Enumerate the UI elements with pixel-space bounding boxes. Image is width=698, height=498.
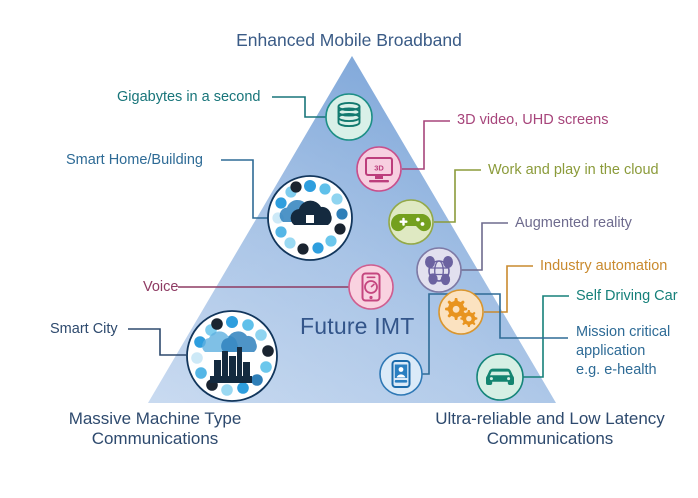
callout-label-gigabytes[interactable]: Gigabytes in a second — [117, 89, 260, 106]
callout-label-voice[interactable]: Voice — [143, 279, 178, 296]
page-title: Enhanced Mobile Broadband — [0, 30, 698, 50]
voice-phone-icon[interactable] — [349, 265, 393, 309]
gamepad-icon[interactable] — [389, 200, 433, 244]
callout-label-3d-video[interactable]: 3D video, UHD screens — [457, 112, 609, 129]
gears-icon[interactable] — [439, 290, 483, 334]
smart-home-cloud-icon[interactable] — [268, 176, 352, 260]
database-icon[interactable] — [326, 94, 372, 140]
3d-monitor-icon[interactable]: 3D — [357, 147, 401, 191]
globe-ar-icon[interactable] — [417, 248, 461, 292]
callout-label-augmented[interactable]: Augmented reality — [515, 215, 632, 232]
callout-label-smart-home[interactable]: Smart Home/Building — [66, 152, 203, 169]
callout-label-cloud-play[interactable]: Work and play in the cloud — [488, 162, 659, 179]
corner-label-left: Massive Machine Type Communications — [25, 409, 285, 448]
corner-label-right: Ultra-reliable and Low Latency Communica… — [410, 409, 690, 448]
center-label: Future IMT — [300, 313, 414, 339]
callout-label-smart-city[interactable]: Smart City — [50, 321, 118, 338]
callout-label-self-driving[interactable]: Self Driving Car — [576, 288, 678, 305]
ehealth-phone-icon[interactable] — [380, 353, 422, 395]
car-icon[interactable] — [477, 354, 523, 400]
diagram-canvas: 3D — [0, 0, 698, 498]
callout-label-mission-critical[interactable]: Mission critical application e.g. e-heal… — [576, 323, 670, 380]
connector-smart-city — [128, 329, 186, 355]
smart-city-icon[interactable] — [187, 311, 277, 401]
callout-label-industry[interactable]: Industry automation — [540, 258, 667, 275]
3d-badge-text: 3D — [374, 164, 384, 173]
